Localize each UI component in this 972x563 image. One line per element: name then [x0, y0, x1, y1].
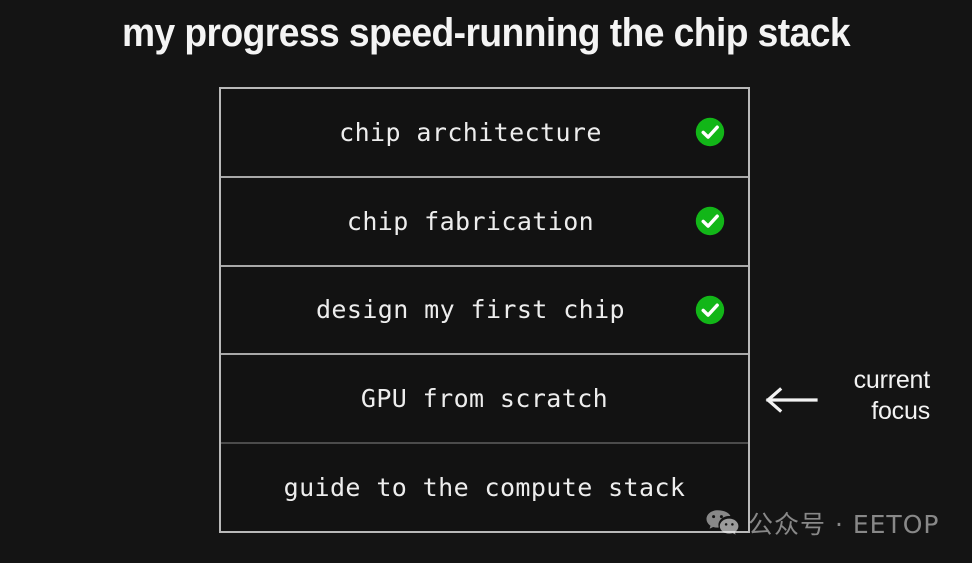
green-check-circle-icon	[695, 117, 725, 147]
green-check-circle-icon	[695, 206, 725, 236]
table-row[interactable]: GPU from scratch	[221, 355, 748, 444]
current-focus-annotation: current focus	[762, 365, 962, 435]
row-label: chip architecture	[339, 118, 602, 147]
row-label: chip fabrication	[347, 207, 594, 236]
current-focus-line1: current	[800, 365, 930, 396]
current-focus-label: current focus	[800, 365, 930, 427]
watermark: 公众号 · EETOP	[705, 505, 939, 541]
slide-canvas: my progress speed-running the chip stack…	[0, 0, 972, 563]
row-label: design my first chip	[316, 295, 625, 324]
table-row[interactable]: chip fabrication	[221, 178, 748, 267]
table-row[interactable]: design my first chip	[221, 267, 748, 356]
chip-stack-table: chip architecture chip fabrication desig…	[219, 87, 750, 533]
table-row[interactable]: guide to the compute stack	[221, 444, 748, 531]
watermark-text: 公众号 · EETOP	[748, 505, 939, 541]
table-row[interactable]: chip architecture	[221, 89, 748, 178]
page-title: my progress speed-running the chip stack	[34, 10, 938, 56]
green-check-circle-icon	[695, 295, 725, 325]
row-label: guide to the compute stack	[284, 473, 686, 502]
current-focus-line2: focus	[800, 396, 930, 427]
row-label: GPU from scratch	[361, 384, 608, 413]
wechat-icon	[705, 508, 739, 538]
